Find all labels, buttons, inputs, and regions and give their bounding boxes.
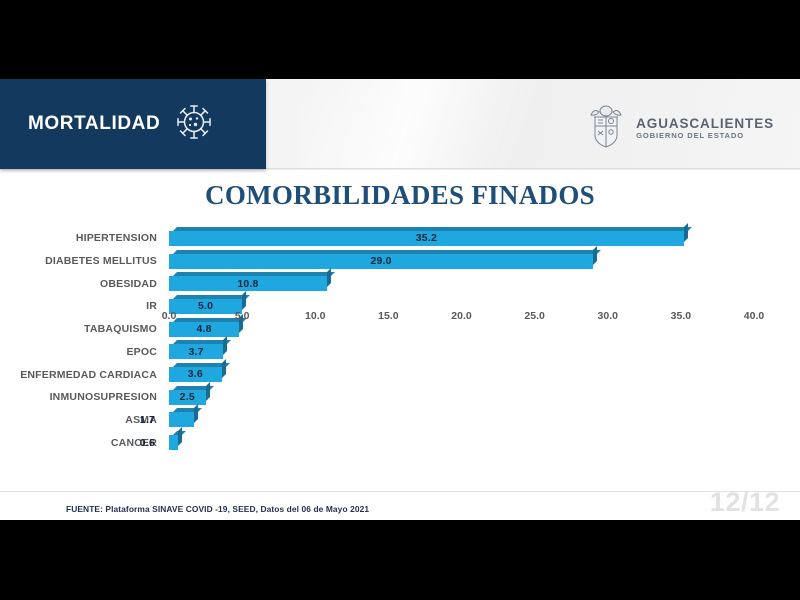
x-axis-tick: 40.0 xyxy=(744,310,764,322)
x-axis-tick: 25.0 xyxy=(524,310,544,322)
bar-row: 29.0 xyxy=(169,250,754,273)
government-logo: AGUASCALIENTES GOBIERNO DEL ESTADO xyxy=(585,103,774,154)
category-label: IR xyxy=(0,295,166,318)
bar-front-face xyxy=(169,231,684,246)
x-axis-tick: 20.0 xyxy=(451,310,471,322)
letterbox-bottom xyxy=(0,520,800,600)
x-axis-tick: 15.0 xyxy=(378,310,398,322)
government-subtitle: GOBIERNO DEL ESTADO xyxy=(636,132,774,140)
bar-front-face xyxy=(169,254,593,269)
bar-side-face xyxy=(222,359,226,378)
value-axis: 0.05.010.015.020.025.030.035.040.0 xyxy=(169,310,754,330)
x-axis-tick: 5.0 xyxy=(235,310,250,322)
bar-row: 0.6 xyxy=(169,431,754,454)
coronavirus-icon xyxy=(174,102,214,147)
plot-area: 35.229.010.85.04.83.73.62.51.70.6 xyxy=(169,227,754,454)
bar-top-face xyxy=(173,295,250,299)
comorbidities-bar-chart: HIPERTENSIONDIABETES MELLITUSOBESIDADIRT… xyxy=(0,227,800,489)
bar-row: 10.8 xyxy=(169,272,754,295)
x-axis-tick: 35.0 xyxy=(671,310,691,322)
source-note: FUENTE: Plataforma SINAVE COVID -19, SEE… xyxy=(66,504,369,514)
category-label: HIPERTENSION xyxy=(0,227,166,250)
bar[interactable]: 3.6 xyxy=(169,367,222,382)
bar-top-face xyxy=(173,250,601,254)
government-name: AGUASCALIENTES xyxy=(636,117,774,131)
presentation-slide: MORTALIDAD xyxy=(0,79,800,529)
bar-top-face xyxy=(173,227,692,231)
category-label: ASMA xyxy=(0,409,166,432)
page-number: 12/12 xyxy=(710,487,780,518)
bar[interactable]: 2.5 xyxy=(169,390,206,405)
category-axis: HIPERTENSIONDIABETES MELLITUSOBESIDADIRT… xyxy=(0,227,166,454)
category-label: OBESIDAD xyxy=(0,272,166,295)
bar-side-face xyxy=(178,427,182,446)
bar-side-face xyxy=(327,268,331,287)
bar-side-face xyxy=(206,382,210,401)
category-label: DIABETES MELLITUS xyxy=(0,250,166,273)
bar-side-face xyxy=(194,404,198,423)
section-title: MORTALIDAD xyxy=(28,113,160,135)
bar[interactable]: 10.8 xyxy=(169,276,327,291)
chart-title: COMORBILIDADES FINADOS xyxy=(0,180,800,211)
section-title-panel: MORTALIDAD xyxy=(0,79,266,169)
x-axis-tick: 10.0 xyxy=(305,310,325,322)
bar[interactable]: 35.2 xyxy=(169,231,684,246)
bar[interactable]: 0.6 xyxy=(169,435,178,450)
letterbox-top xyxy=(0,0,800,79)
bar-row: 1.7 xyxy=(169,409,754,432)
bar[interactable]: 3.7 xyxy=(169,344,223,359)
category-label: EPOC xyxy=(0,341,166,364)
bar-side-face xyxy=(242,291,246,310)
footer-divider xyxy=(0,491,800,492)
bar-side-face xyxy=(593,246,597,265)
aguascalientes-coat-of-arms-icon xyxy=(585,103,627,154)
category-label: INMUNOSUPRESION xyxy=(0,386,166,409)
bar-front-face xyxy=(169,390,206,405)
x-axis-tick: 30.0 xyxy=(598,310,618,322)
bar-front-face xyxy=(169,412,194,427)
government-logo-text: AGUASCALIENTES GOBIERNO DEL ESTADO xyxy=(636,117,774,140)
bar-row: 3.6 xyxy=(169,363,754,386)
screenshot-viewport: MORTALIDAD xyxy=(0,0,800,600)
x-axis-tick: 0.0 xyxy=(162,310,177,322)
bar[interactable]: 29.0 xyxy=(169,254,593,269)
bar-side-face xyxy=(684,223,688,242)
bar[interactable]: 1.7 xyxy=(169,412,194,427)
bar-front-face xyxy=(169,276,327,291)
bar-side-face xyxy=(223,336,227,355)
bar-row: 3.7 xyxy=(169,340,754,363)
bar-front-face xyxy=(169,435,178,450)
bar-top-face xyxy=(173,272,335,276)
bar-row: 2.5 xyxy=(169,386,754,409)
bar-row: 35.2 xyxy=(169,227,754,250)
bar-front-face xyxy=(169,367,222,382)
category-label: TABAQUISMO xyxy=(0,318,166,341)
bar-front-face xyxy=(169,344,223,359)
category-label: CANCER xyxy=(0,431,166,454)
category-label: ENFERMEDAD CARDIACA xyxy=(0,363,166,386)
